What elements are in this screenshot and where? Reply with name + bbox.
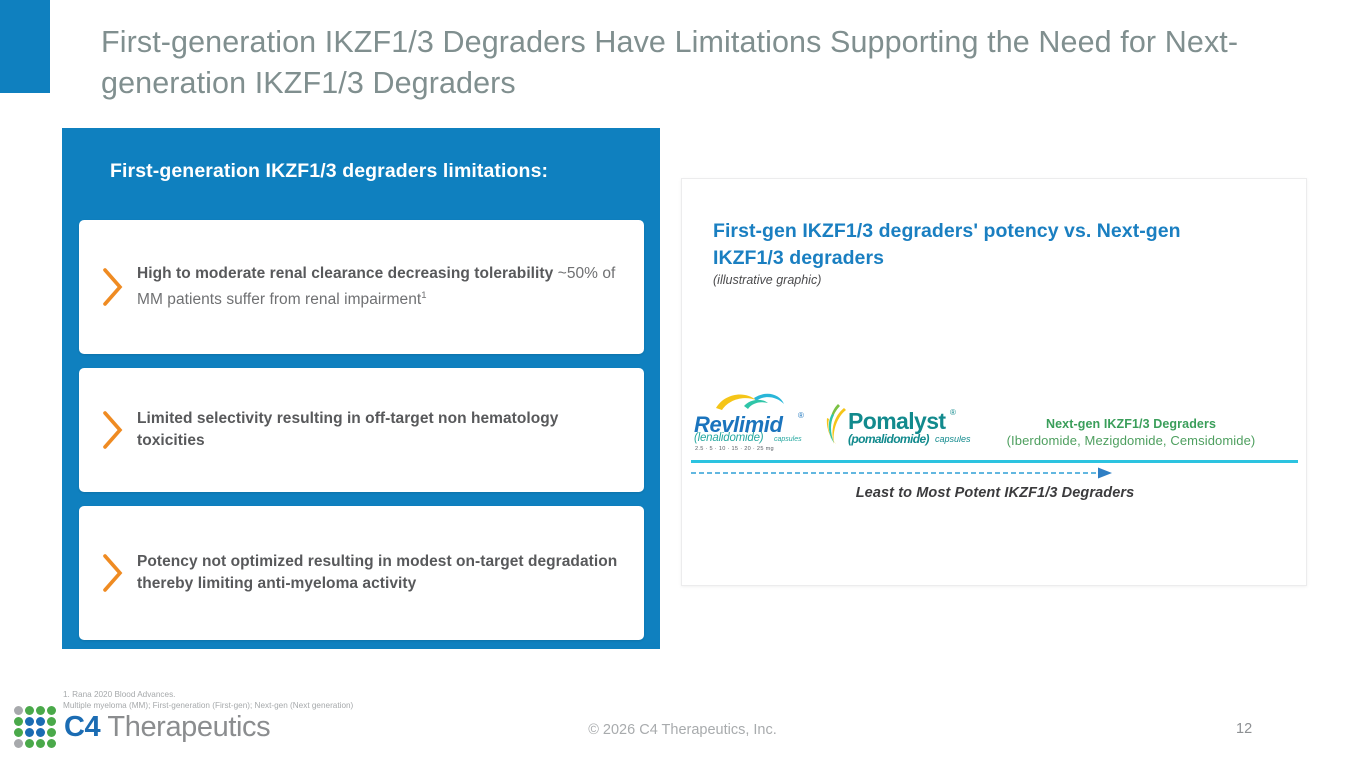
limitations-panel: First-generation IKZF1/3 degraders limit… (62, 128, 660, 649)
list-item[interactable]: Potency not optimized resulting in modes… (79, 506, 644, 640)
list-item-title: Limited selectivity resulting in off-tar… (137, 410, 558, 450)
list-item-title: Potency not optimized resulting in modes… (137, 553, 617, 593)
chevron-right-icon (93, 552, 133, 594)
page-title: First-generation IKZF1/3 Degraders Have … (101, 22, 1281, 104)
potency-axis-line (691, 460, 1298, 463)
revlimid-doses: 2.5 · 5 · 10 · 15 · 20 · 25 mg (695, 446, 774, 452)
chevron-right-icon (93, 409, 133, 451)
pomalyst-brand: Pomalyst (848, 408, 945, 435)
revlimid-trademark: ® (798, 411, 804, 420)
copyright-text: © 2026 C4 Therapeutics, Inc. (0, 722, 1365, 738)
logo-dot-14 (36, 739, 45, 748)
page-number: 12 (1236, 721, 1252, 737)
next-gen-degraders-block: Next-gen IKZF1/3 Degraders (Iberdomide, … (964, 417, 1298, 448)
potency-panel-title: First-gen IKZF1/3 degraders' potency vs.… (713, 218, 1233, 272)
revlimid-form: capsules (774, 436, 802, 443)
pomalyst-trademark: ® (950, 408, 956, 417)
logo-dot-15 (47, 739, 56, 748)
list-item-title: High to moderate renal clearance decreas… (137, 265, 553, 282)
revlimid-logo: Revlimid ® (lenalidomide) capsules 2.5 ·… (692, 394, 817, 456)
potency-axis-caption: Least to Most Potent IKZF1/3 Degraders (682, 485, 1308, 501)
accent-bar (0, 0, 50, 93)
footnote-line-1: 1. Rana 2020 Blood Advances. (63, 690, 353, 701)
logo-dot-0 (14, 706, 23, 715)
limitations-card-list: High to moderate renal clearance decreas… (79, 220, 644, 654)
logo-dot-1 (25, 706, 34, 715)
next-gen-compounds: (Iberdomide, Mezigdomide, Cemsidomide) (964, 433, 1298, 448)
potency-arrow-icon (691, 466, 1121, 478)
logo-dot-2 (36, 706, 45, 715)
list-item[interactable]: Limited selectivity resulting in off-tar… (79, 368, 644, 492)
chevron-right-icon (93, 266, 133, 308)
pomalyst-generic: (pomalidomide) (848, 432, 929, 446)
drug-logos-row: Revlimid ® (lenalidomide) capsules 2.5 ·… (692, 394, 1298, 464)
potency-panel-subtitle: (illustrative graphic) (713, 273, 821, 287)
list-item[interactable]: High to moderate renal clearance decreas… (79, 220, 644, 354)
list-item-text: Potency not optimized resulting in modes… (133, 551, 626, 596)
logo-dot-12 (14, 739, 23, 748)
footnote-marker: 1 (421, 290, 426, 301)
potency-comparison-panel: First-gen IKZF1/3 degraders' potency vs.… (681, 178, 1307, 586)
limitations-panel-heading: First-generation IKZF1/3 degraders limit… (110, 160, 640, 183)
logo-dot-13 (25, 739, 34, 748)
pomalyst-logo: Pomalyst ® (pomalidomide) capsules (824, 394, 959, 456)
pomalyst-leaf-icon (824, 402, 850, 448)
logo-dot-3 (47, 706, 56, 715)
list-item-text: High to moderate renal clearance decreas… (133, 263, 626, 312)
next-gen-title: Next-gen IKZF1/3 Degraders (964, 417, 1298, 431)
list-item-text: Limited selectivity resulting in off-tar… (133, 408, 626, 453)
revlimid-generic: (lenalidomide) (694, 432, 763, 444)
revlimid-swoosh-icon (710, 392, 835, 414)
